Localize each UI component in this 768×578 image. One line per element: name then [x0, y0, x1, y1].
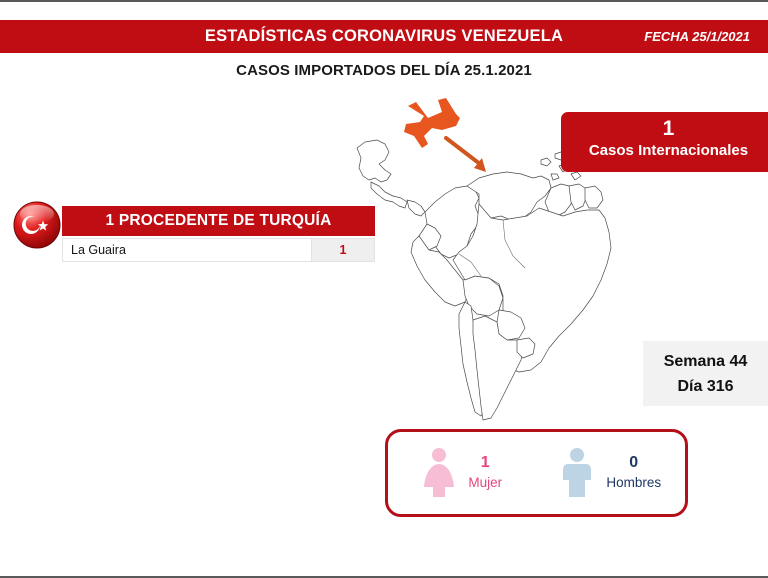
- airplane-icon: [398, 98, 513, 178]
- international-cases-count: 1: [561, 116, 768, 141]
- gender-panel: 1 Mujer 0 Hombres: [385, 429, 688, 517]
- gender-text-male: 0 Hombres: [606, 453, 661, 493]
- table-row: La Guaira 1: [62, 238, 375, 262]
- turkey-flag-icon: [12, 200, 62, 250]
- male-count: 0: [606, 453, 661, 473]
- subtitle: CASOS IMPORTADOS DEL DÍA 25.1.2021: [0, 62, 768, 79]
- international-cases-card: 1 Casos Internacionales: [561, 112, 768, 172]
- table-cell-count: 1: [311, 238, 375, 262]
- male-icon: [560, 447, 594, 499]
- header-date: FECHA 25/1/2021: [644, 20, 750, 53]
- origin-table: 1 PROCEDENTE DE TURQUÍA La Guaira 1: [62, 206, 375, 262]
- male-label: Hombres: [606, 473, 661, 493]
- table-cell-state: La Guaira: [62, 238, 311, 262]
- period-week: Semana 44: [643, 349, 768, 374]
- period-day: Día 316: [643, 374, 768, 399]
- female-label: Mujer: [468, 473, 502, 493]
- female-count: 1: [468, 453, 502, 473]
- header-banner: ESTADÍSTICAS CORONAVIRUS VENEZUELA FECHA…: [0, 20, 768, 53]
- gender-text-female: 1 Mujer: [468, 453, 502, 493]
- origin-table-header: 1 PROCEDENTE DE TURQUÍA: [62, 206, 375, 236]
- period-box: Semana 44 Día 316: [643, 341, 768, 406]
- international-cases-label: Casos Internacionales: [561, 141, 768, 161]
- gender-item-female: 1 Mujer: [388, 447, 537, 499]
- infographic-page: ESTADÍSTICAS CORONAVIRUS VENEZUELA FECHA…: [0, 0, 768, 578]
- female-icon: [422, 447, 456, 499]
- gender-item-male: 0 Hombres: [537, 447, 686, 499]
